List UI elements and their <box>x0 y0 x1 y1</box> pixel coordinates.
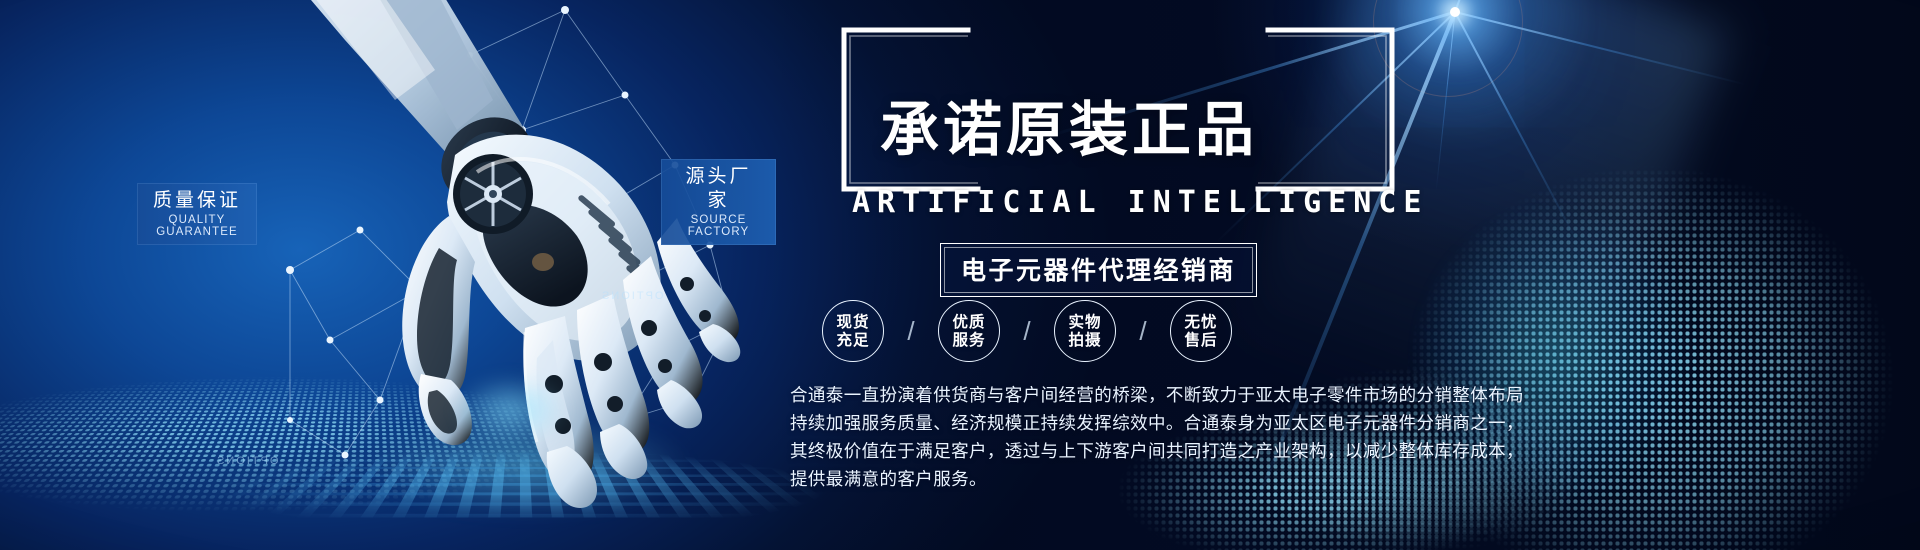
subtitle-text: 电子元器件代理经销商 <box>961 251 1236 287</box>
feature-aftersales-line2: 售后 <box>1184 331 1217 349</box>
feature-photo[interactable]: 实物 拍摄 <box>1054 300 1116 362</box>
description-line-4: 提供最满意的客户服务。 <box>790 466 1670 494</box>
feature-separator: / <box>1000 316 1054 347</box>
feature-separator: / <box>884 316 938 347</box>
badge-source-factory: 源头厂家 SOURCE FACTORY <box>661 159 776 245</box>
description-line-2: 持续加强服务质量、经济规模正持续发挥综效中。合通泰身为亚太区电子元器件分销商之一… <box>790 410 1670 438</box>
badge-source-cn: 源头厂家 <box>675 165 762 213</box>
description-paragraph: 合通泰一直扮演着供货商与客户间经营的桥梁，不断致力于亚太电子零件市场的分销整体布… <box>790 382 1670 494</box>
badge-source-en: SOURCE FACTORY <box>675 214 762 238</box>
badge-quality-en: QUALITY GUARANTEE <box>151 214 243 238</box>
content-column: 承诺原装正品 ARTIFICIAL INTELLIGENCE 电子元器件代理经销… <box>790 0 1920 550</box>
feature-stock-line1: 现货 <box>836 313 869 331</box>
fingertip-glow <box>420 350 600 470</box>
ai-electronics-banner: OPTIONS OPTIONS 质量保证 QUALITY GUARANTEE 源… <box>0 0 1920 550</box>
badge-quality-guarantee: 质量保证 QUALITY GUARANTEE <box>137 183 257 245</box>
title-english: ARTIFICIAL INTELLIGENCE <box>852 185 1428 220</box>
feature-aftersales[interactable]: 无忧 售后 <box>1170 300 1232 362</box>
feature-service-line2: 服务 <box>952 331 985 349</box>
subtitle-box: 电子元器件代理经销商 <box>940 243 1257 297</box>
description-line-3: 其终极价值在于满足客户，透过与上下游客户间共同打造之产业架构，以减少整体库存成本… <box>790 438 1670 466</box>
feature-service[interactable]: 优质 服务 <box>938 300 1000 362</box>
feature-list: 现货 充足 / 优质 服务 / 实物 拍摄 / 无忧 售后 <box>822 300 1232 362</box>
feature-photo-line1: 实物 <box>1068 313 1101 331</box>
page-title: 承诺原装正品 <box>880 82 1258 167</box>
badge-quality-cn: 质量保证 <box>151 189 243 213</box>
feature-aftersales-line1: 无忧 <box>1184 313 1217 331</box>
feature-separator: / <box>1116 316 1170 347</box>
decor-watermark-right: OPTIONS <box>600 290 664 302</box>
decor-watermark-left: OPTIONS <box>215 455 279 467</box>
feature-photo-line2: 拍摄 <box>1068 331 1101 349</box>
feature-stock[interactable]: 现货 充足 <box>822 300 884 362</box>
description-line-1: 合通泰一直扮演着供货商与客户间经营的桥梁，不断致力于亚太电子零件市场的分销整体布… <box>790 382 1670 410</box>
feature-service-line1: 优质 <box>952 313 985 331</box>
feature-stock-line2: 充足 <box>836 331 869 349</box>
